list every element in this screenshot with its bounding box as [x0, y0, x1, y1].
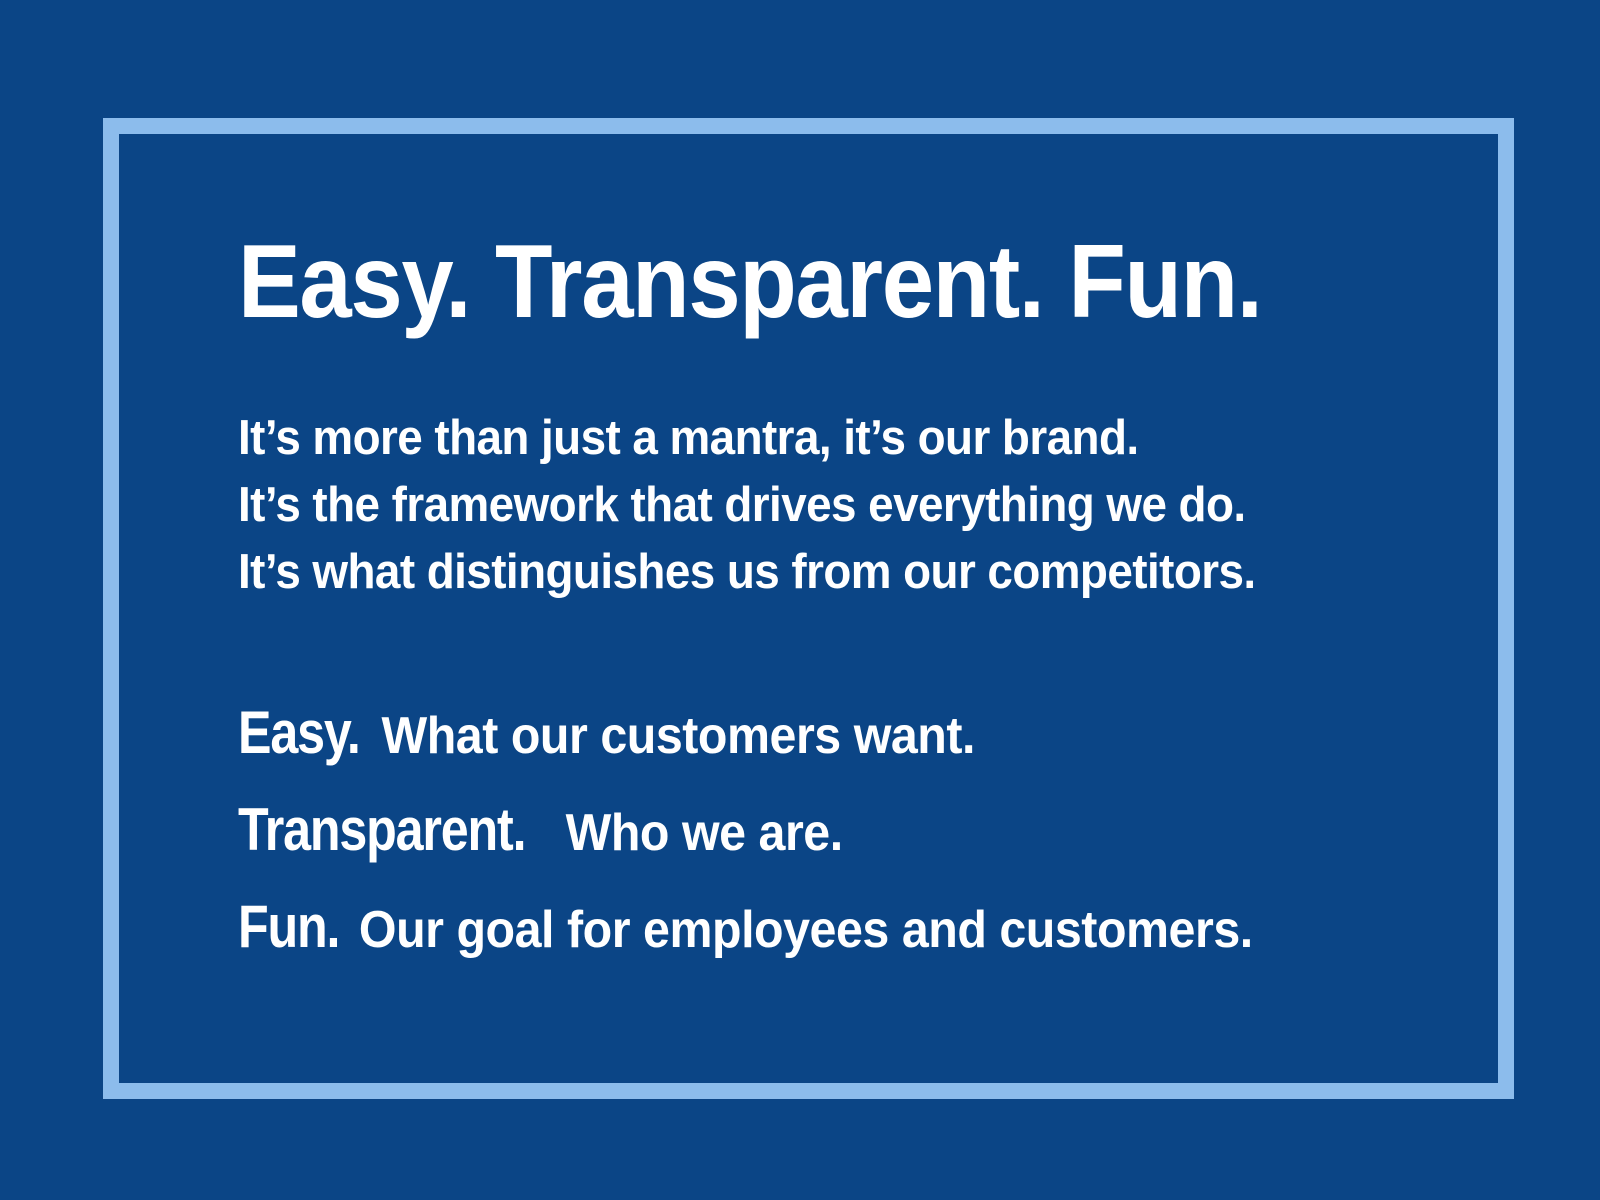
page-title: Easy. Transparent. Fun.	[238, 227, 1262, 337]
intro-line-2: It’s the framework that drives everythin…	[238, 472, 1323, 539]
definition-description-transparent: Who we are.	[557, 804, 842, 862]
definition-term-fun: Fun.	[238, 886, 339, 967]
slide-content: Easy. Transparent. Fun. It’s more than j…	[238, 0, 1388, 1200]
definition-description-fun: Our goal for employees and customers.	[351, 901, 1253, 959]
intro-line-3: It’s what distinguishes us from our comp…	[238, 539, 1323, 606]
definition-item-fun: Fun.Our goal for employees and customers…	[238, 886, 1335, 983]
definition-description-easy: What our customers want.	[373, 707, 975, 765]
definition-list: Easy.What our customers want. Transparen…	[238, 692, 1418, 983]
definition-item-easy: Easy.What our customers want.	[238, 692, 1335, 789]
brand-mantra-slide: Easy. Transparent. Fun. It’s more than j…	[0, 0, 1600, 1200]
intro-line-1: It’s more than just a mantra, it’s our b…	[238, 405, 1323, 472]
definition-term-easy: Easy.	[238, 692, 360, 773]
intro-paragraph: It’s more than just a mantra, it’s our b…	[238, 405, 1398, 606]
definition-term-transparent: Transparent.	[238, 789, 525, 870]
definition-item-transparent: Transparent.Who we are.	[238, 789, 1335, 886]
